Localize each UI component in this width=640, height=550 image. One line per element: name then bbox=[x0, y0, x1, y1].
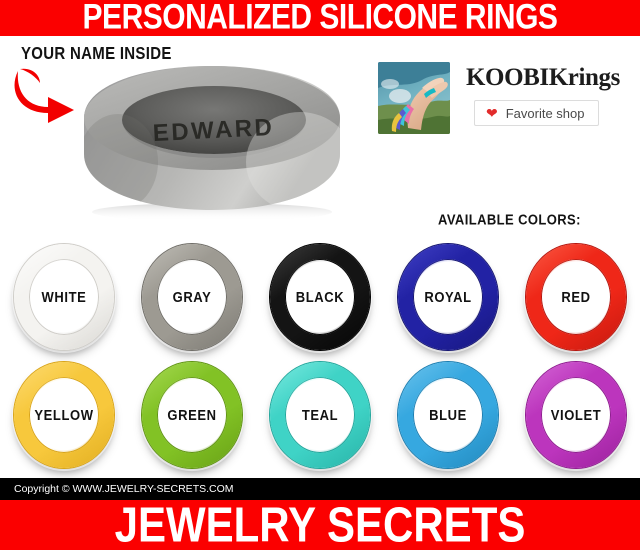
favorite-shop-label: Favorite shop bbox=[506, 106, 585, 121]
copyright-bar: Copyright © WWW.JEWELRY-SECRETS.COM bbox=[0, 478, 640, 500]
shop-photo-hand-with-ring[interactable] bbox=[378, 62, 450, 134]
silicone-ring-photo: EDWARD bbox=[78, 62, 346, 222]
color-ring-label: WHITE bbox=[0, 289, 128, 306]
your-name-inside-label: YOUR NAME INSIDE bbox=[21, 44, 172, 63]
color-ring-item-royal[interactable]: ROYAL bbox=[384, 238, 512, 356]
color-ring-item-teal[interactable]: TEAL bbox=[256, 356, 384, 474]
copyright-text: Copyright © WWW.JEWELRY-SECRETS.COM bbox=[0, 483, 234, 495]
color-ring-item-black[interactable]: BLACK bbox=[256, 238, 384, 356]
favorite-shop-button[interactable]: ❤ Favorite shop bbox=[474, 100, 599, 126]
hero-ring-image: EDWARD bbox=[78, 62, 346, 222]
color-ring-label: ROYAL bbox=[384, 289, 512, 306]
available-colors-heading: AVAILABLE COLORS: bbox=[438, 211, 581, 228]
bottom-banner-title: JEWELRY SECRETS bbox=[115, 500, 526, 550]
poster-canvas: PERSONALIZED SILICONE RINGS YOUR NAME IN… bbox=[0, 0, 640, 550]
top-banner-title: PERSONALIZED SILICONE RINGS bbox=[83, 0, 558, 36]
color-ring-label: VIOLET bbox=[512, 407, 640, 424]
color-ring-item-blue[interactable]: BLUE bbox=[384, 356, 512, 474]
color-ring-row: YELLOW GREEN TEAL BLUE bbox=[0, 356, 640, 474]
shop-name[interactable]: KOOBIKrings bbox=[466, 64, 620, 92]
color-ring-label: GRAY bbox=[128, 289, 256, 306]
color-ring-label: BLACK bbox=[256, 289, 384, 306]
top-banner: PERSONALIZED SILICONE RINGS bbox=[0, 0, 640, 36]
color-ring-item-violet[interactable]: VIOLET bbox=[512, 356, 640, 474]
color-ring-grid: WHITE GRAY BLACK ROYAL bbox=[0, 238, 640, 474]
color-ring-item-green[interactable]: GREEN bbox=[128, 356, 256, 474]
color-ring-row: WHITE GRAY BLACK ROYAL bbox=[0, 238, 640, 356]
color-ring-label: RED bbox=[512, 289, 640, 306]
color-ring-label: GREEN bbox=[128, 407, 256, 424]
shop-header: KOOBIKrings ❤ Favorite shop bbox=[378, 62, 628, 138]
color-ring-item-red[interactable]: RED bbox=[512, 238, 640, 356]
color-ring-label: BLUE bbox=[384, 407, 512, 424]
color-ring-item-white[interactable]: WHITE bbox=[0, 238, 128, 356]
color-ring-item-yellow[interactable]: YELLOW bbox=[0, 356, 128, 474]
color-ring-label: TEAL bbox=[256, 407, 384, 424]
color-ring-item-gray[interactable]: GRAY bbox=[128, 238, 256, 356]
bottom-banner: JEWELRY SECRETS bbox=[0, 500, 640, 550]
heart-icon: ❤ bbox=[486, 106, 498, 120]
color-ring-label: YELLOW bbox=[0, 407, 128, 424]
